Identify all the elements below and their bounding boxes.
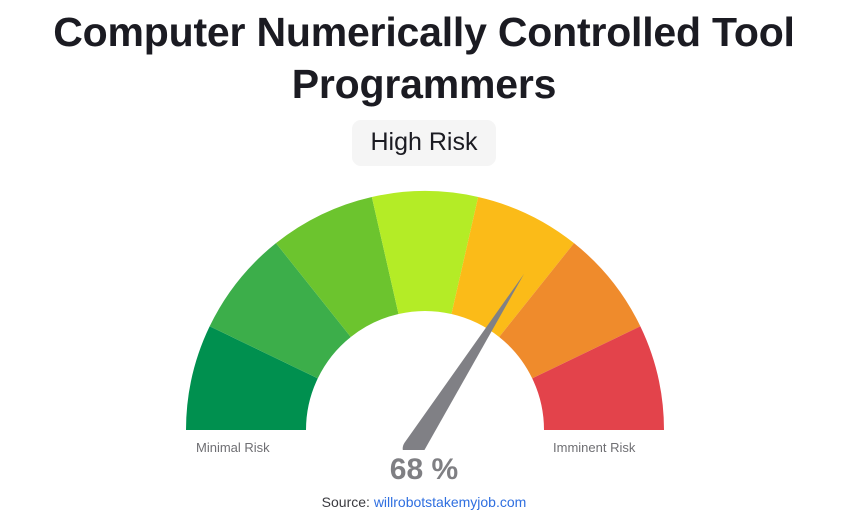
source-line: Source: willrobotstakemyjob.com (0, 492, 848, 512)
source-prefix: Source: (322, 494, 370, 510)
risk-gauge (0, 175, 848, 450)
page-title: Computer Numerically Controlled Tool Pro… (0, 6, 848, 110)
source-link[interactable]: willrobotstakemyjob.com (374, 494, 527, 510)
gauge-value-text: 68 % (0, 452, 848, 488)
gauge-chart-page: Computer Numerically Controlled Tool Pro… (0, 0, 848, 519)
gauge-segments (186, 191, 664, 430)
status-badge: High Risk (352, 120, 497, 166)
gauge-container (0, 175, 848, 450)
risk-badge-row: High Risk (0, 120, 848, 166)
